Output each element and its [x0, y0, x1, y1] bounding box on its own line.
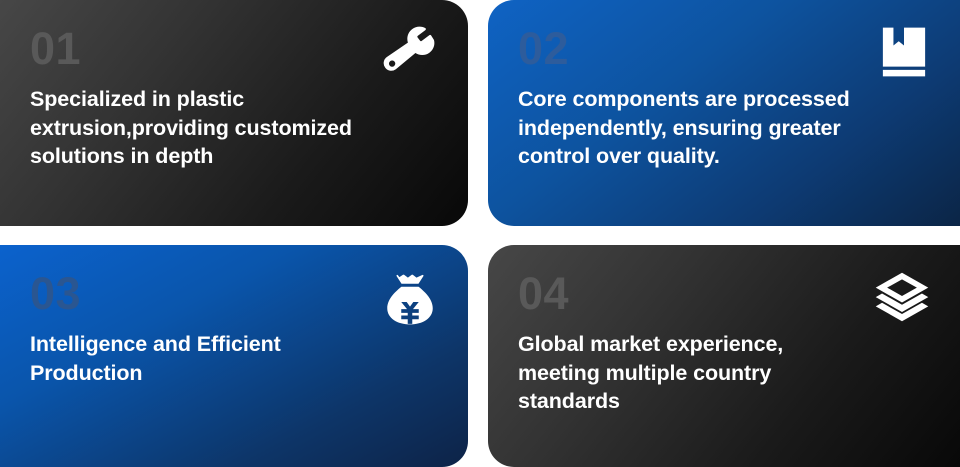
card-text-01: Specialized in plastic extrusion,providi… — [30, 85, 438, 171]
feature-card-04[interactable]: 04 Global market experience, meeting mul… — [488, 245, 960, 467]
feature-card-grid: 01 Specialized in plastic extrusion,prov… — [0, 0, 960, 459]
feature-card-03[interactable]: 03 Intelligence and Efficient Production — [0, 245, 468, 467]
card-number-03: 03 — [30, 271, 438, 316]
card-number-04: 04 — [518, 271, 930, 316]
card-text-02: Core components are processed independen… — [518, 85, 930, 171]
card-text-04: Global market experience, meeting multip… — [518, 330, 930, 416]
feature-card-01[interactable]: 01 Specialized in plastic extrusion,prov… — [0, 0, 468, 226]
card-number-02: 02 — [518, 26, 930, 71]
feature-card-02[interactable]: 02 Core components are processed indepen… — [488, 0, 960, 226]
card-text-03: Intelligence and Efficient Production — [30, 330, 438, 387]
card-number-01: 01 — [30, 26, 438, 71]
